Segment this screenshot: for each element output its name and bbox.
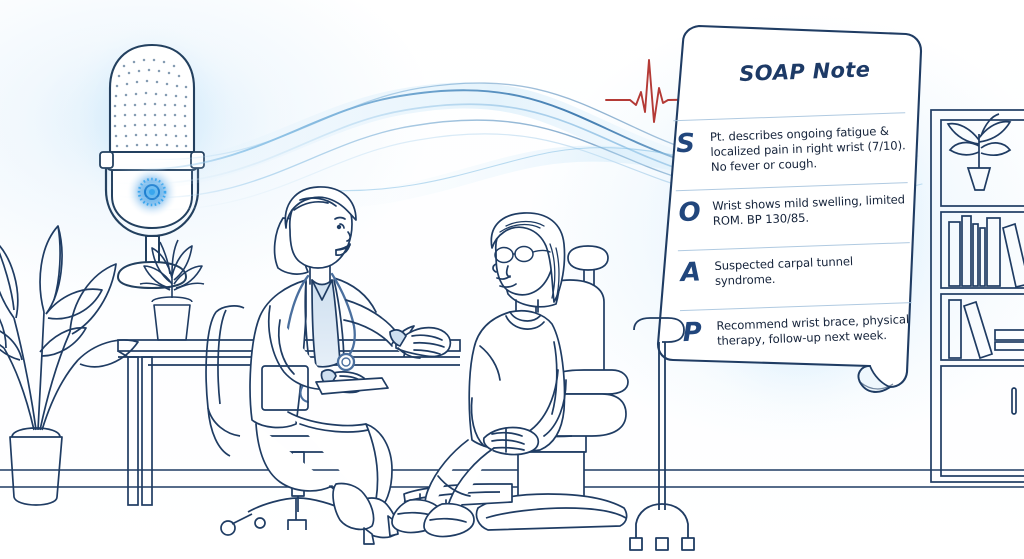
cabinet-door-handle[interactable] (1012, 388, 1016, 414)
floor-plant (0, 226, 138, 505)
bookshelf-books-row-2 (949, 300, 1024, 358)
illustration-canvas: SOAP Note S Pt. describes ongoing fatigu… (0, 0, 1024, 559)
line-art-layer (0, 0, 1024, 559)
soap-note-card[interactable] (650, 20, 950, 430)
bookshelf-books-row-1 (949, 216, 1024, 287)
microphone-icon (56, 10, 248, 288)
